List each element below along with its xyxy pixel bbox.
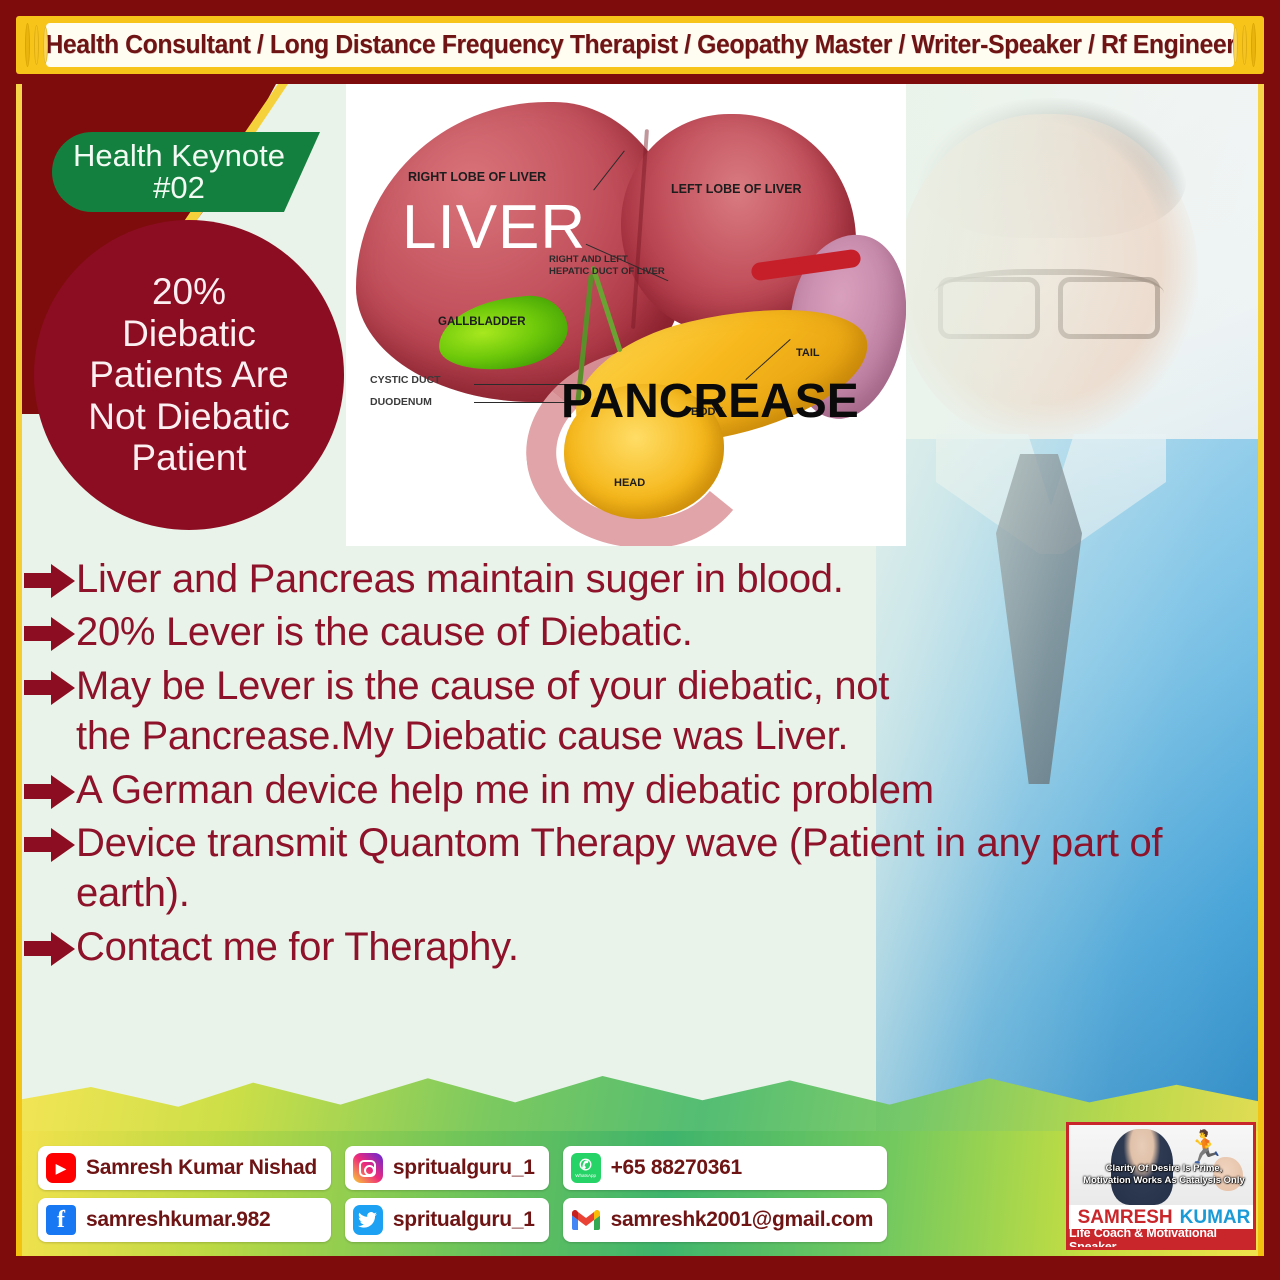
contact-youtube[interactable]: ▶ Samresh Kumar Nishad — [38, 1146, 331, 1190]
contact-column-2: spritualguru_1 spritualguru_1 — [345, 1146, 549, 1242]
list-item: 20% Lever is the cause of Diebatic. — [24, 607, 1264, 657]
label-right-lobe: RIGHT LOBE OF LIVER — [408, 170, 546, 184]
health-keynote-banner: Health Keynote #02 — [52, 132, 320, 212]
gmail-icon — [571, 1205, 601, 1235]
keynote-line-2: #02 — [153, 172, 205, 204]
list-item: A German device help me in my diebatic p… — [24, 765, 1264, 815]
bullet-text: A German device help me in my diebatic p… — [76, 765, 1264, 815]
arrow-bullet-icon — [24, 617, 76, 651]
left-gold-edge — [16, 84, 22, 1256]
badge-role: Life Coach & Motivational Speaker — [1069, 1229, 1256, 1250]
arrow-bullet-icon — [24, 932, 76, 966]
contact-label: spritualguru_1 — [393, 1208, 535, 1232]
contact-gmail[interactable]: samreshk2001@gmail.com — [563, 1198, 888, 1242]
contact-twitter[interactable]: spritualguru_1 — [345, 1198, 549, 1242]
header-inner-panel: Health Consultant / Long Distance Freque… — [46, 23, 1234, 67]
contact-label: Samresh Kumar Nishad — [86, 1156, 317, 1180]
youtube-icon: ▶ — [46, 1153, 76, 1183]
liver-pancreas-diagram: RIGHT LOBE OF LIVER LEFT LOBE OF LIVER R… — [346, 84, 906, 546]
contact-label: samreshkumar.982 — [86, 1208, 270, 1232]
label-gallbladder: GALLBLADDER — [438, 316, 526, 328]
badge-tagline: Clarity Of Desire Is Prime, Motivation W… — [1069, 1163, 1256, 1187]
label-tail: TAIL — [796, 347, 820, 359]
contact-label: +65 88270361 — [611, 1156, 742, 1180]
speaker-logo-badge: 🏃 Clarity Of Desire Is Prime, Motivation… — [1066, 1122, 1256, 1250]
label-left-lobe: LEFT LOBE OF LIVER — [671, 182, 802, 196]
diagram-title-pancrease: PANCREASE — [561, 374, 859, 429]
contact-column-3: ✆WhatsApp +65 88270361 samreshk2001@gma — [563, 1146, 888, 1242]
arrow-bullet-icon — [24, 564, 76, 598]
facebook-icon: f — [46, 1205, 76, 1235]
bullet-text: May be Lever is the cause of your diebat… — [76, 661, 916, 762]
twitter-icon — [353, 1205, 383, 1235]
contact-whatsapp[interactable]: ✆WhatsApp +65 88270361 — [563, 1146, 888, 1190]
bullet-text: Contact me for Theraphy. — [76, 922, 1076, 972]
contact-facebook[interactable]: f samreshkumar.982 — [38, 1198, 331, 1242]
list-item: Liver and Pancreas maintain suger in blo… — [24, 554, 1264, 604]
label-cystic-duct: CYSTIC DUCT — [370, 374, 441, 386]
instagram-icon — [353, 1153, 383, 1183]
whatsapp-icon: ✆WhatsApp — [571, 1153, 601, 1183]
list-item: Device transmit Quantom Therapy wave (Pa… — [24, 818, 1264, 919]
list-item: Contact me for Theraphy. — [24, 922, 1264, 972]
arrow-bullet-icon — [24, 775, 76, 809]
contact-instagram[interactable]: spritualguru_1 — [345, 1146, 549, 1190]
bullet-text: Device transmit Quantom Therapy wave (Pa… — [76, 818, 1261, 919]
poster-canvas: RIGHT LOBE OF LIVER LEFT LOBE OF LIVER R… — [16, 84, 1264, 1256]
label-head: HEAD — [614, 477, 645, 489]
header-title: Health Consultant / Long Distance Freque… — [45, 31, 1235, 60]
contact-label: samreshk2001@gmail.com — [611, 1208, 874, 1232]
contact-column-1: ▶ Samresh Kumar Nishad f samreshkumar.98… — [38, 1146, 331, 1242]
list-item: May be Lever is the cause of your diebat… — [24, 661, 1264, 762]
arrow-bullet-icon — [24, 671, 76, 705]
label-duodenum: DUODENUM — [370, 396, 432, 408]
header-bar: Health Consultant / Long Distance Freque… — [16, 16, 1264, 74]
bullet-list: Liver and Pancreas maintain suger in blo… — [24, 554, 1264, 975]
diagram-title-liver: LIVER — [402, 192, 586, 263]
headline-circle-text: 20% Diebatic Patients Are Not Diebatic P… — [34, 271, 344, 478]
headline-circle: 20% Diebatic Patients Are Not Diebatic P… — [34, 220, 344, 530]
bullet-text: 20% Lever is the cause of Diebatic. — [76, 607, 1176, 657]
contact-label: spritualguru_1 — [393, 1156, 535, 1180]
bullet-text: Liver and Pancreas maintain suger in blo… — [76, 554, 936, 604]
keynote-line-1: Health Keynote — [73, 140, 285, 172]
poster-root: Health Consultant / Long Distance Freque… — [0, 0, 1280, 1280]
arrow-bullet-icon — [24, 828, 76, 862]
